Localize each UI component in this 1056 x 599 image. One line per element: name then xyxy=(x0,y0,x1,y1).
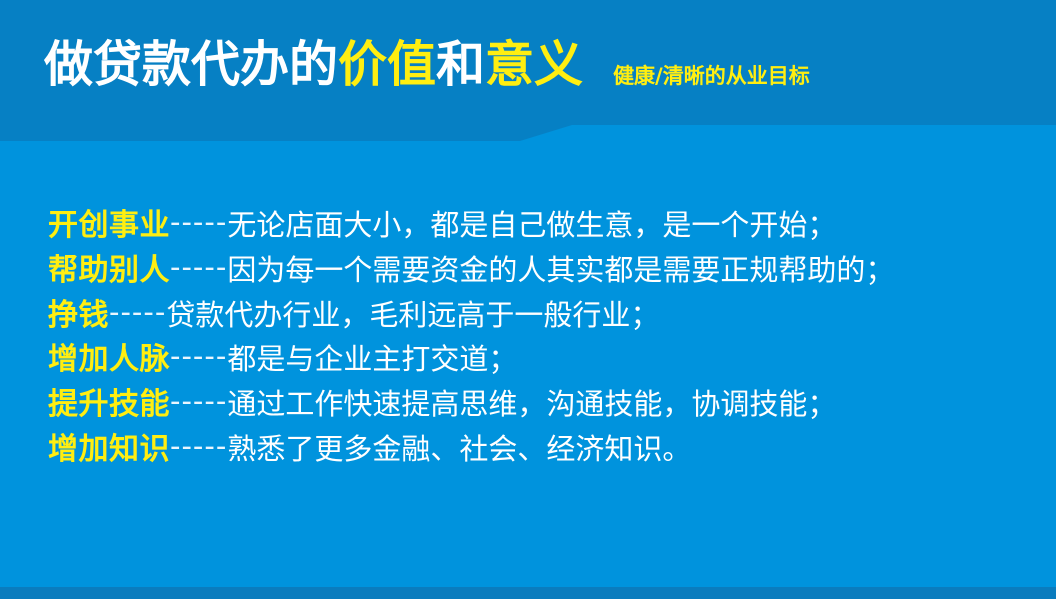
bullet-text: 熟悉了更多金融、社会、经济知识。 xyxy=(227,432,691,466)
list-item: 挣钱-----贷款代办行业，毛利远高于一般行业； xyxy=(48,300,1046,332)
bullet-dashes: ----- xyxy=(170,250,227,284)
slide-canvas: 做贷款代办的价值和意义 健康/清晰的从业目标 开创事业-----无论店面大小，都… xyxy=(0,0,1056,599)
bullet-text: 通过工作快速提高思维，沟通技能，协调技能； xyxy=(227,387,836,421)
body-area: 开创事业-----无论店面大小，都是自己做生意，是一个开始； 帮助别人-----… xyxy=(0,141,1056,587)
bullet-keyword: 提升技能 xyxy=(48,387,170,422)
title-segment-2: 价值 xyxy=(338,36,436,93)
bullet-keyword: 增加知识 xyxy=(48,432,170,467)
title-segment-4: 意义 xyxy=(485,36,583,93)
page-title: 做贷款代办的价值和意义 xyxy=(44,40,583,89)
page-subtitle: 健康/清晰的从业目标 xyxy=(613,60,810,90)
title-segment-3: 和 xyxy=(436,36,485,93)
bullet-dashes: ----- xyxy=(170,339,227,373)
bullet-dashes: ----- xyxy=(170,429,227,463)
bullet-dashes: ----- xyxy=(109,295,166,329)
bullet-keyword: 开创事业 xyxy=(48,208,170,243)
list-item: 增加人脉-----都是与企业主打交道； xyxy=(48,344,1046,376)
header-content: 做贷款代办的价值和意义 健康/清晰的从业目标 xyxy=(0,0,1056,125)
bullet-list: 开创事业-----无论店面大小，都是自己做生意，是一个开始； 帮助别人-----… xyxy=(48,210,1046,479)
list-item: 提升技能-----通过工作快速提高思维，沟通技能，协调技能； xyxy=(48,389,1046,421)
bullet-text: 贷款代办行业，毛利远高于一般行业； xyxy=(166,298,659,332)
bullet-text: 无论店面大小，都是自己做生意，是一个开始； xyxy=(227,208,836,242)
bullet-dashes: ----- xyxy=(170,384,227,418)
title-segment-1: 做贷款代办的 xyxy=(44,36,338,93)
list-item: 增加知识-----熟悉了更多金融、社会、经济知识。 xyxy=(48,434,1046,466)
bullet-text: 因为每一个需要资金的人其实都是需要正规帮助的； xyxy=(227,253,894,287)
bullet-dashes: ----- xyxy=(170,205,227,239)
bullet-keyword: 挣钱 xyxy=(48,298,109,333)
list-item: 开创事业-----无论店面大小，都是自己做生意，是一个开始； xyxy=(48,210,1046,242)
bullet-text: 都是与企业主打交道； xyxy=(227,342,517,376)
bullet-keyword: 增加人脉 xyxy=(48,342,170,377)
list-item: 帮助别人-----因为每一个需要资金的人其实都是需要正规帮助的； xyxy=(48,255,1046,287)
bullet-keyword: 帮助别人 xyxy=(48,253,170,288)
footer-strip xyxy=(0,587,1056,599)
